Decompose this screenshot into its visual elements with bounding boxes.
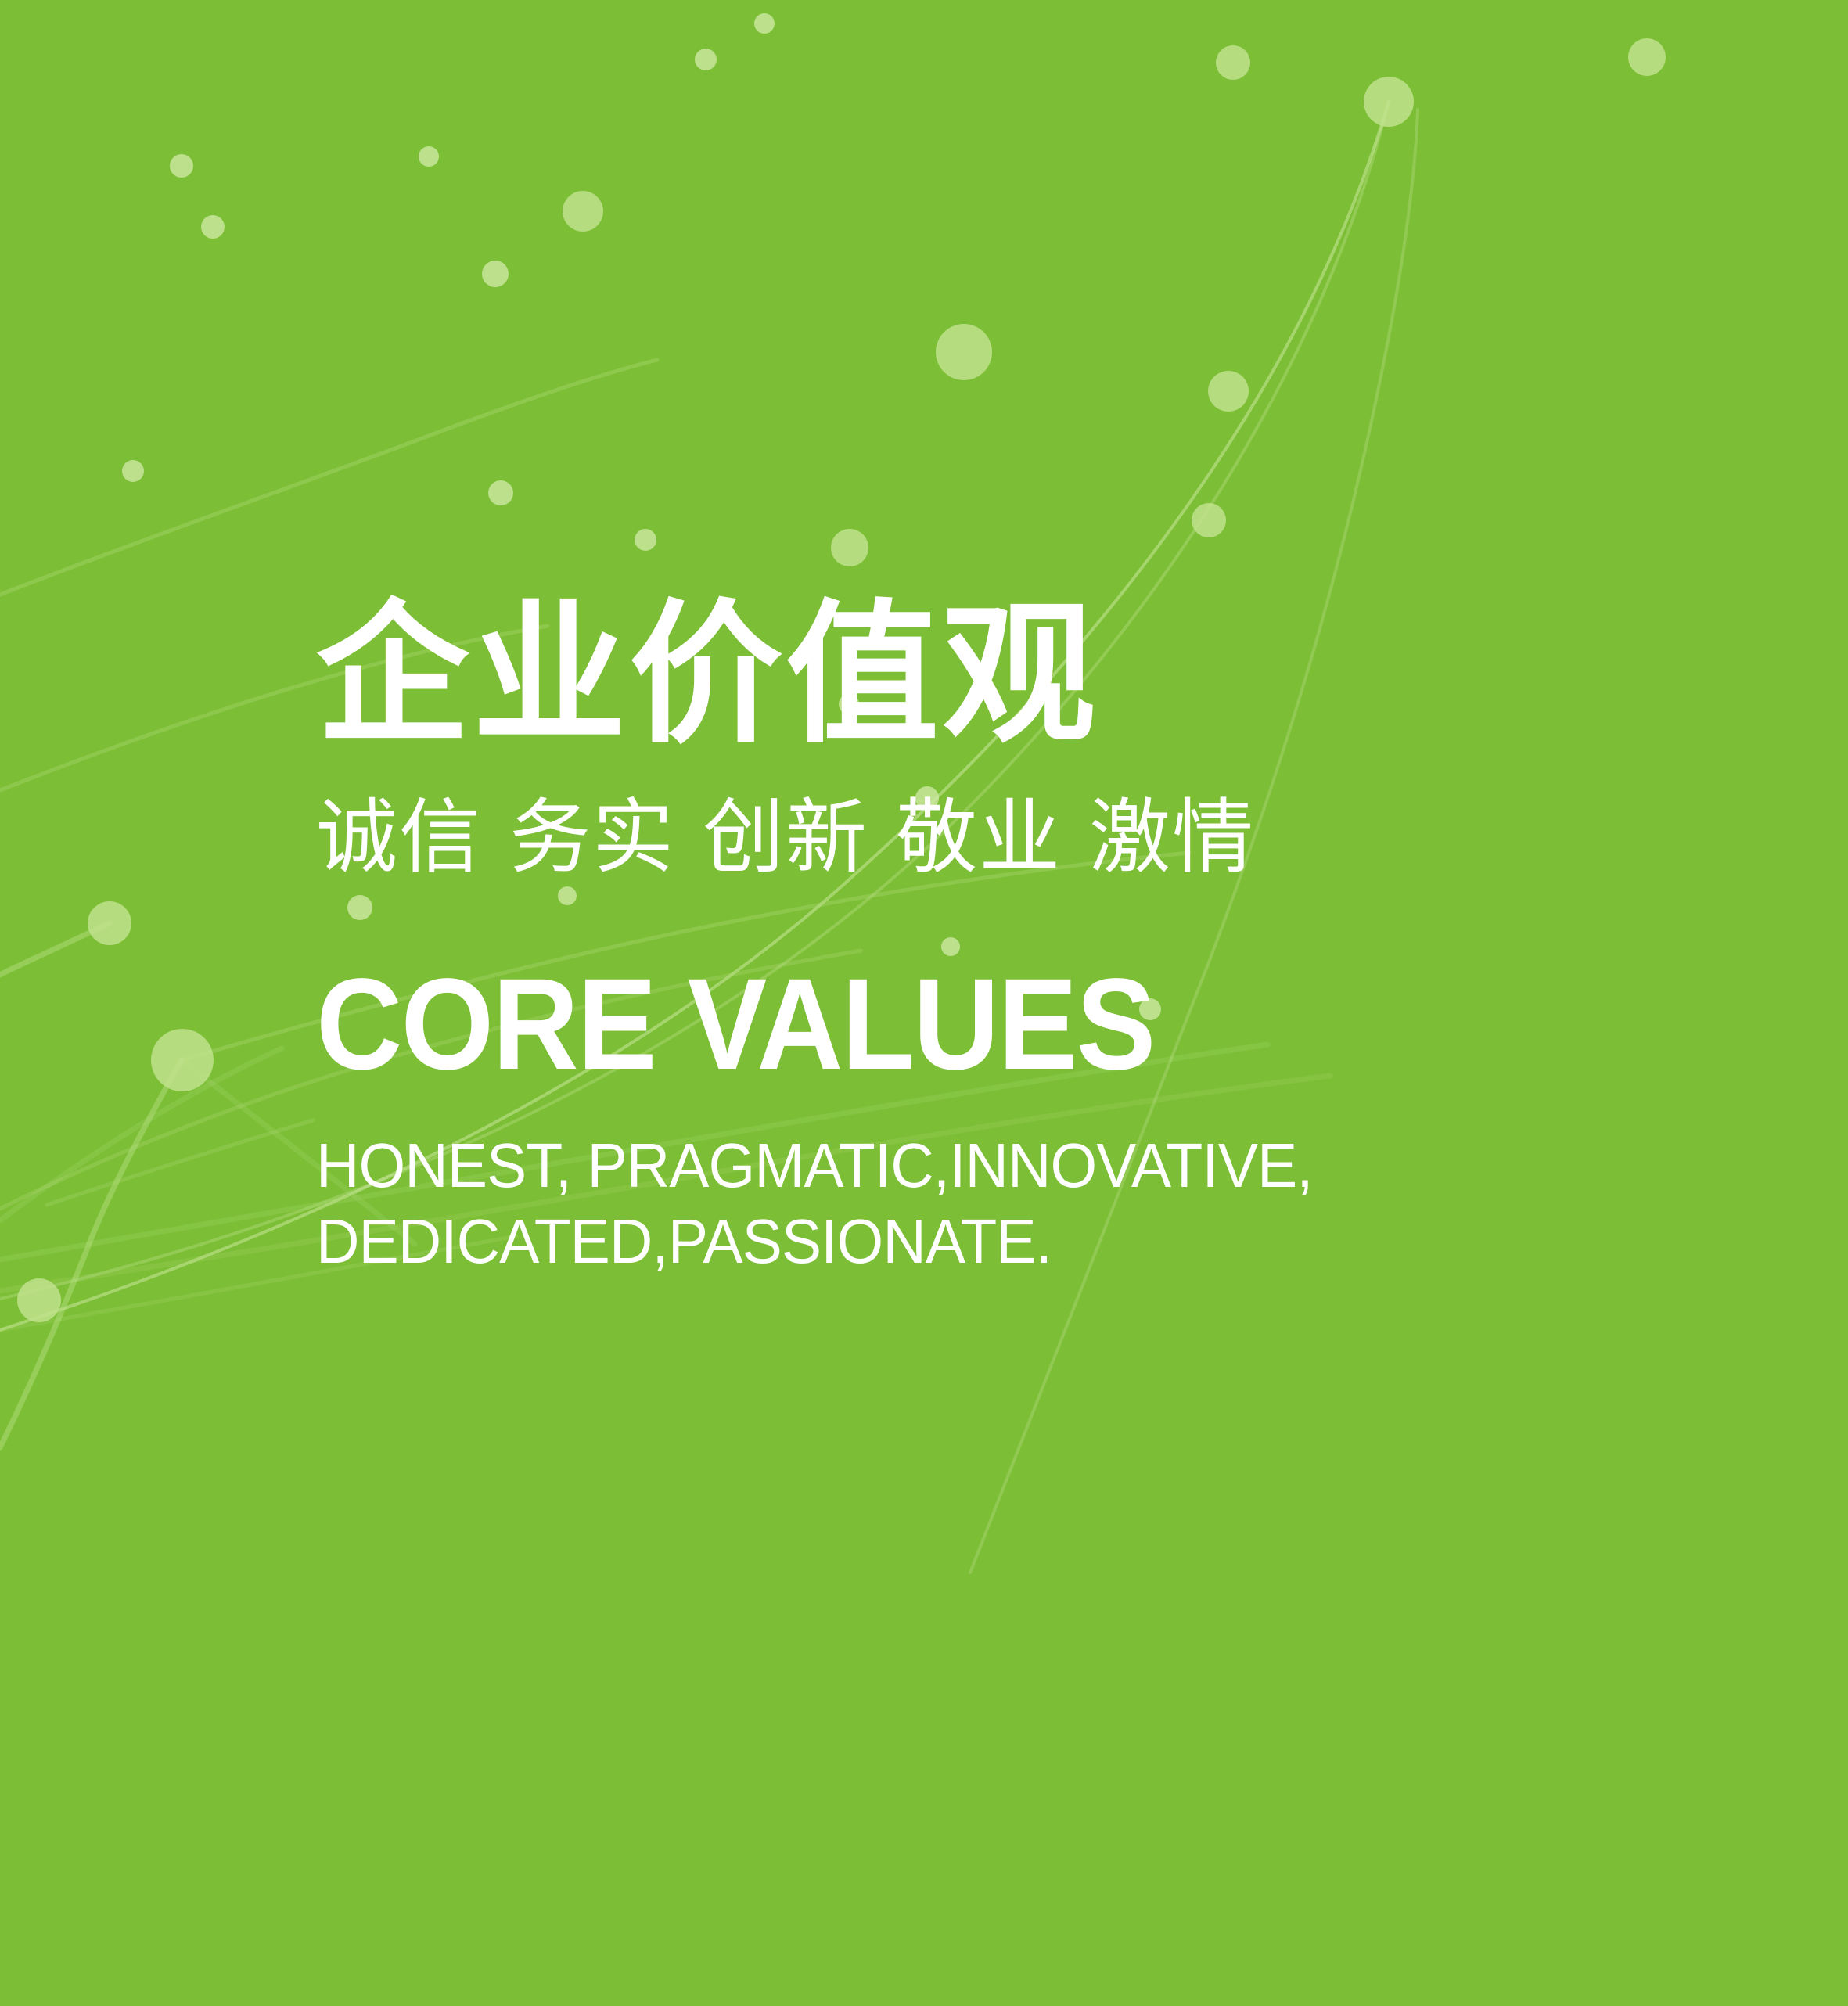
network-node (1192, 503, 1226, 537)
network-node (88, 901, 131, 945)
network-node (151, 1029, 214, 1091)
network-node (482, 261, 509, 287)
page-title-english: CORE VALUES (316, 960, 1612, 1090)
page-title-chinese: 企业价值观 (316, 595, 1724, 757)
network-node (122, 460, 144, 482)
subtitle-chinese-values: 诚信 务实 创新 敬业 激情 (316, 786, 1724, 890)
values-description-line-2: DEDICATED,PASSIONATE. (316, 1203, 1668, 1280)
text-content-block: 企业价值观 诚信 务实 创新 敬业 激情 CORE VALUES HONEST,… (316, 595, 1724, 1280)
network-node (488, 480, 513, 505)
network-node (1216, 45, 1250, 80)
network-node (201, 215, 225, 239)
network-node (563, 191, 603, 232)
network-node (754, 13, 775, 34)
network-node (419, 146, 439, 167)
network-node (695, 49, 717, 70)
values-description-line-1: HONEST, PRAGMATIC,INNOVATIVE, (316, 1127, 1668, 1204)
network-node (17, 1278, 61, 1322)
core-values-banner: .ln { fill: none; stroke: #B9E084; strok… (0, 0, 1848, 2006)
network-node (1208, 371, 1249, 412)
values-description-english: HONEST, PRAGMATIC,INNOVATIVE, DEDICATED,… (316, 1127, 1668, 1280)
network-node (170, 154, 193, 178)
network-node (936, 324, 992, 380)
network-node (635, 529, 656, 551)
network-node (1628, 38, 1666, 76)
network-node (831, 529, 868, 566)
network-node (1364, 77, 1414, 127)
